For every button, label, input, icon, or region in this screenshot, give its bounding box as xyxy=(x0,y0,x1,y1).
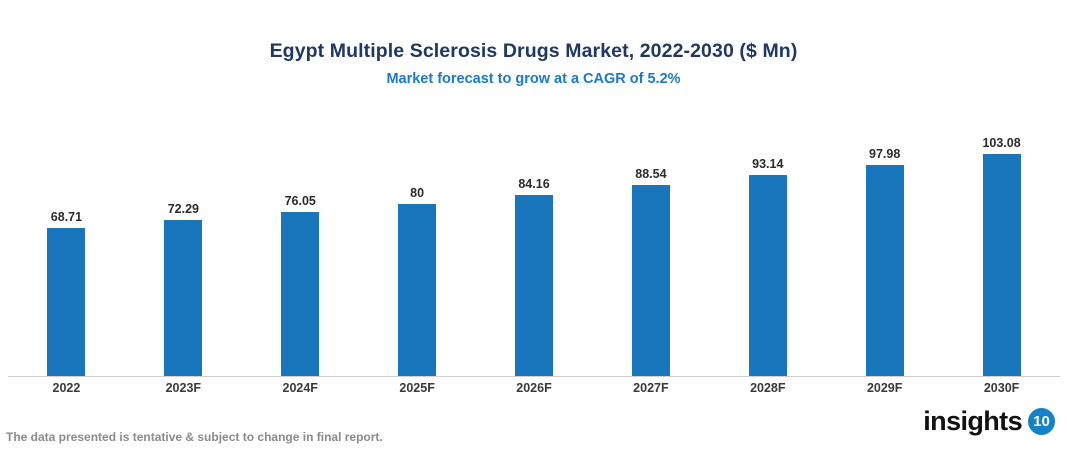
bar-value-label: 72.29 xyxy=(168,202,199,216)
bar-2022[interactable] xyxy=(47,228,85,376)
bar-value-label: 97.98 xyxy=(869,147,900,161)
plot-area: 68.7172.2976.058084.1688.5493.1497.98103… xyxy=(8,110,1060,376)
chart-header: Egypt Multiple Sclerosis Drugs Market, 2… xyxy=(0,38,1067,90)
bar-value-label: 68.71 xyxy=(51,210,82,224)
insights10-logo: insights 10 xyxy=(923,406,1055,436)
bar-slot[interactable]: 76.05 xyxy=(242,110,359,376)
chart-container: Egypt Multiple Sclerosis Drugs Market, 2… xyxy=(0,0,1067,454)
x-axis-label-2026F: 2026F xyxy=(476,379,593,397)
bar-2030F[interactable] xyxy=(983,154,1021,376)
x-axis-line xyxy=(8,376,1060,377)
logo-badge-icon: 10 xyxy=(1028,408,1055,435)
bar-value-label: 93.14 xyxy=(752,157,783,171)
x-axis-label-2028F: 2028F xyxy=(709,379,826,397)
bar-value-label: 76.05 xyxy=(285,194,316,208)
bar-slot[interactable]: 103.08 xyxy=(943,110,1060,376)
bar-2029F[interactable] xyxy=(866,165,904,376)
bar-2023F[interactable] xyxy=(164,220,202,376)
bar-value-label: 103.08 xyxy=(982,136,1020,150)
chart-title: Egypt Multiple Sclerosis Drugs Market, 2… xyxy=(0,38,1067,64)
bar-slot[interactable]: 93.14 xyxy=(709,110,826,376)
x-axis-label-2029F: 2029F xyxy=(826,379,943,397)
bar-2028F[interactable] xyxy=(749,175,787,376)
bar-slot[interactable]: 84.16 xyxy=(476,110,593,376)
bar-value-label: 84.16 xyxy=(518,177,549,191)
bar-slot[interactable]: 80 xyxy=(359,110,476,376)
bar-series: 68.7172.2976.058084.1688.5493.1497.98103… xyxy=(8,110,1060,376)
bar-2026F[interactable] xyxy=(515,195,553,376)
bar-2024F[interactable] xyxy=(281,212,319,376)
bar-slot[interactable]: 97.98 xyxy=(826,110,943,376)
x-axis-label-2024F: 2024F xyxy=(242,379,359,397)
x-axis-tick-labels: 20222023F2024F2025F2026F2027F2028F2029F2… xyxy=(8,379,1060,397)
bar-value-label: 88.54 xyxy=(635,167,666,181)
chart-subtitle: Market forecast to grow at a CAGR of 5.2… xyxy=(0,68,1067,90)
bar-slot[interactable]: 68.71 xyxy=(8,110,125,376)
x-axis-label-2023F: 2023F xyxy=(125,379,242,397)
disclaimer-text: The data presented is tentative & subjec… xyxy=(6,429,383,445)
bar-slot[interactable]: 72.29 xyxy=(125,110,242,376)
bar-2025F[interactable] xyxy=(398,204,436,376)
bar-2027F[interactable] xyxy=(632,185,670,376)
x-axis-label-2025F: 2025F xyxy=(359,379,476,397)
x-axis-label-2022: 2022 xyxy=(8,379,125,397)
x-axis-label-2030F: 2030F xyxy=(943,379,1060,397)
x-axis-label-2027F: 2027F xyxy=(592,379,709,397)
bar-value-label: 80 xyxy=(410,186,424,200)
bar-slot[interactable]: 88.54 xyxy=(592,110,709,376)
logo-wordmark: insights xyxy=(923,406,1022,436)
